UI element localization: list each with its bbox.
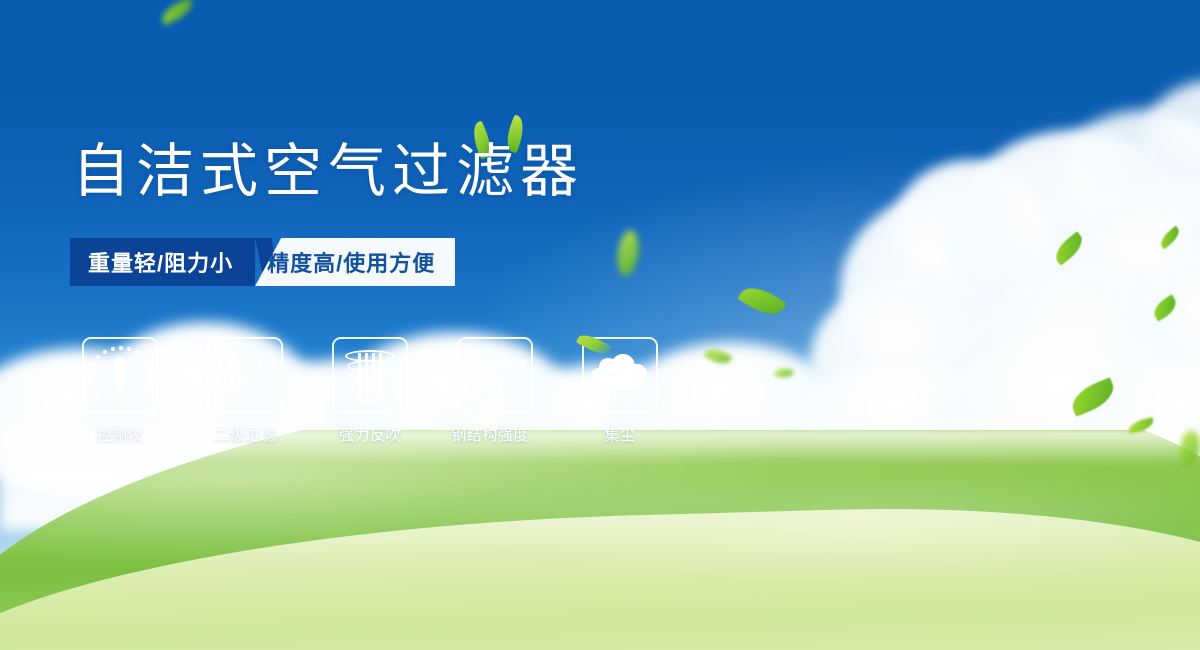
dial-off-label: OFF: [137, 388, 152, 396]
product-hero-banner: 自洁式空气过滤器 重量轻/阻力小 精度高/使用方便: [0, 0, 1200, 650]
filter-stack-icon: [344, 348, 396, 402]
feature-item-blowback[interactable]: 强力反吹: [332, 337, 408, 445]
feature-caption: 控制仪: [82, 424, 158, 445]
steel-plate-text-icon: 3～8MM 钢板: [464, 357, 526, 392]
feature-caption: 集尘: [582, 424, 658, 445]
subtitle-right-text: 精度高/使用方便: [255, 238, 455, 286]
air-cloud-icon: Air: [589, 346, 651, 404]
feature-icon-box: 0.6～0.8 MPA: [207, 337, 283, 413]
air-label: Air: [589, 392, 651, 405]
control-dial-icon: NO OFF: [87, 344, 153, 406]
feature-icon-box: NO OFF: [82, 337, 158, 413]
feature-item-dust[interactable]: Air 集尘: [582, 337, 658, 445]
feature-caption: 强力反吹: [332, 424, 408, 445]
feature-item-control[interactable]: NO OFF 控制仪: [82, 337, 158, 445]
feature-icon-box: Air: [582, 337, 658, 413]
page-title: 自洁式空气过滤器: [72, 142, 584, 200]
feature-caption: 二级过滤: [207, 424, 283, 445]
feature-caption: 钢结构强度: [447, 424, 533, 445]
subtitle-bar: 重量轻/阻力小 精度高/使用方便: [70, 238, 455, 286]
feature-icon-box: [332, 337, 408, 413]
feature-item-pressure[interactable]: 0.6～0.8 MPA 二级过滤: [207, 337, 283, 445]
feature-item-steel[interactable]: 3～8MM 钢板 钢结构强度: [457, 337, 533, 445]
pressure-text-icon: 0.6～0.8 MPA: [212, 357, 278, 392]
feature-list: NO OFF 控制仪 0.6～0.8 MPA 二级过滤: [82, 337, 658, 445]
feature-icon-box: 3～8MM 钢板: [457, 337, 533, 413]
dial-on-label: NO: [87, 371, 99, 379]
subtitle-left-text: 重量轻/阻力小: [70, 238, 255, 286]
grass-field: [0, 430, 1200, 650]
